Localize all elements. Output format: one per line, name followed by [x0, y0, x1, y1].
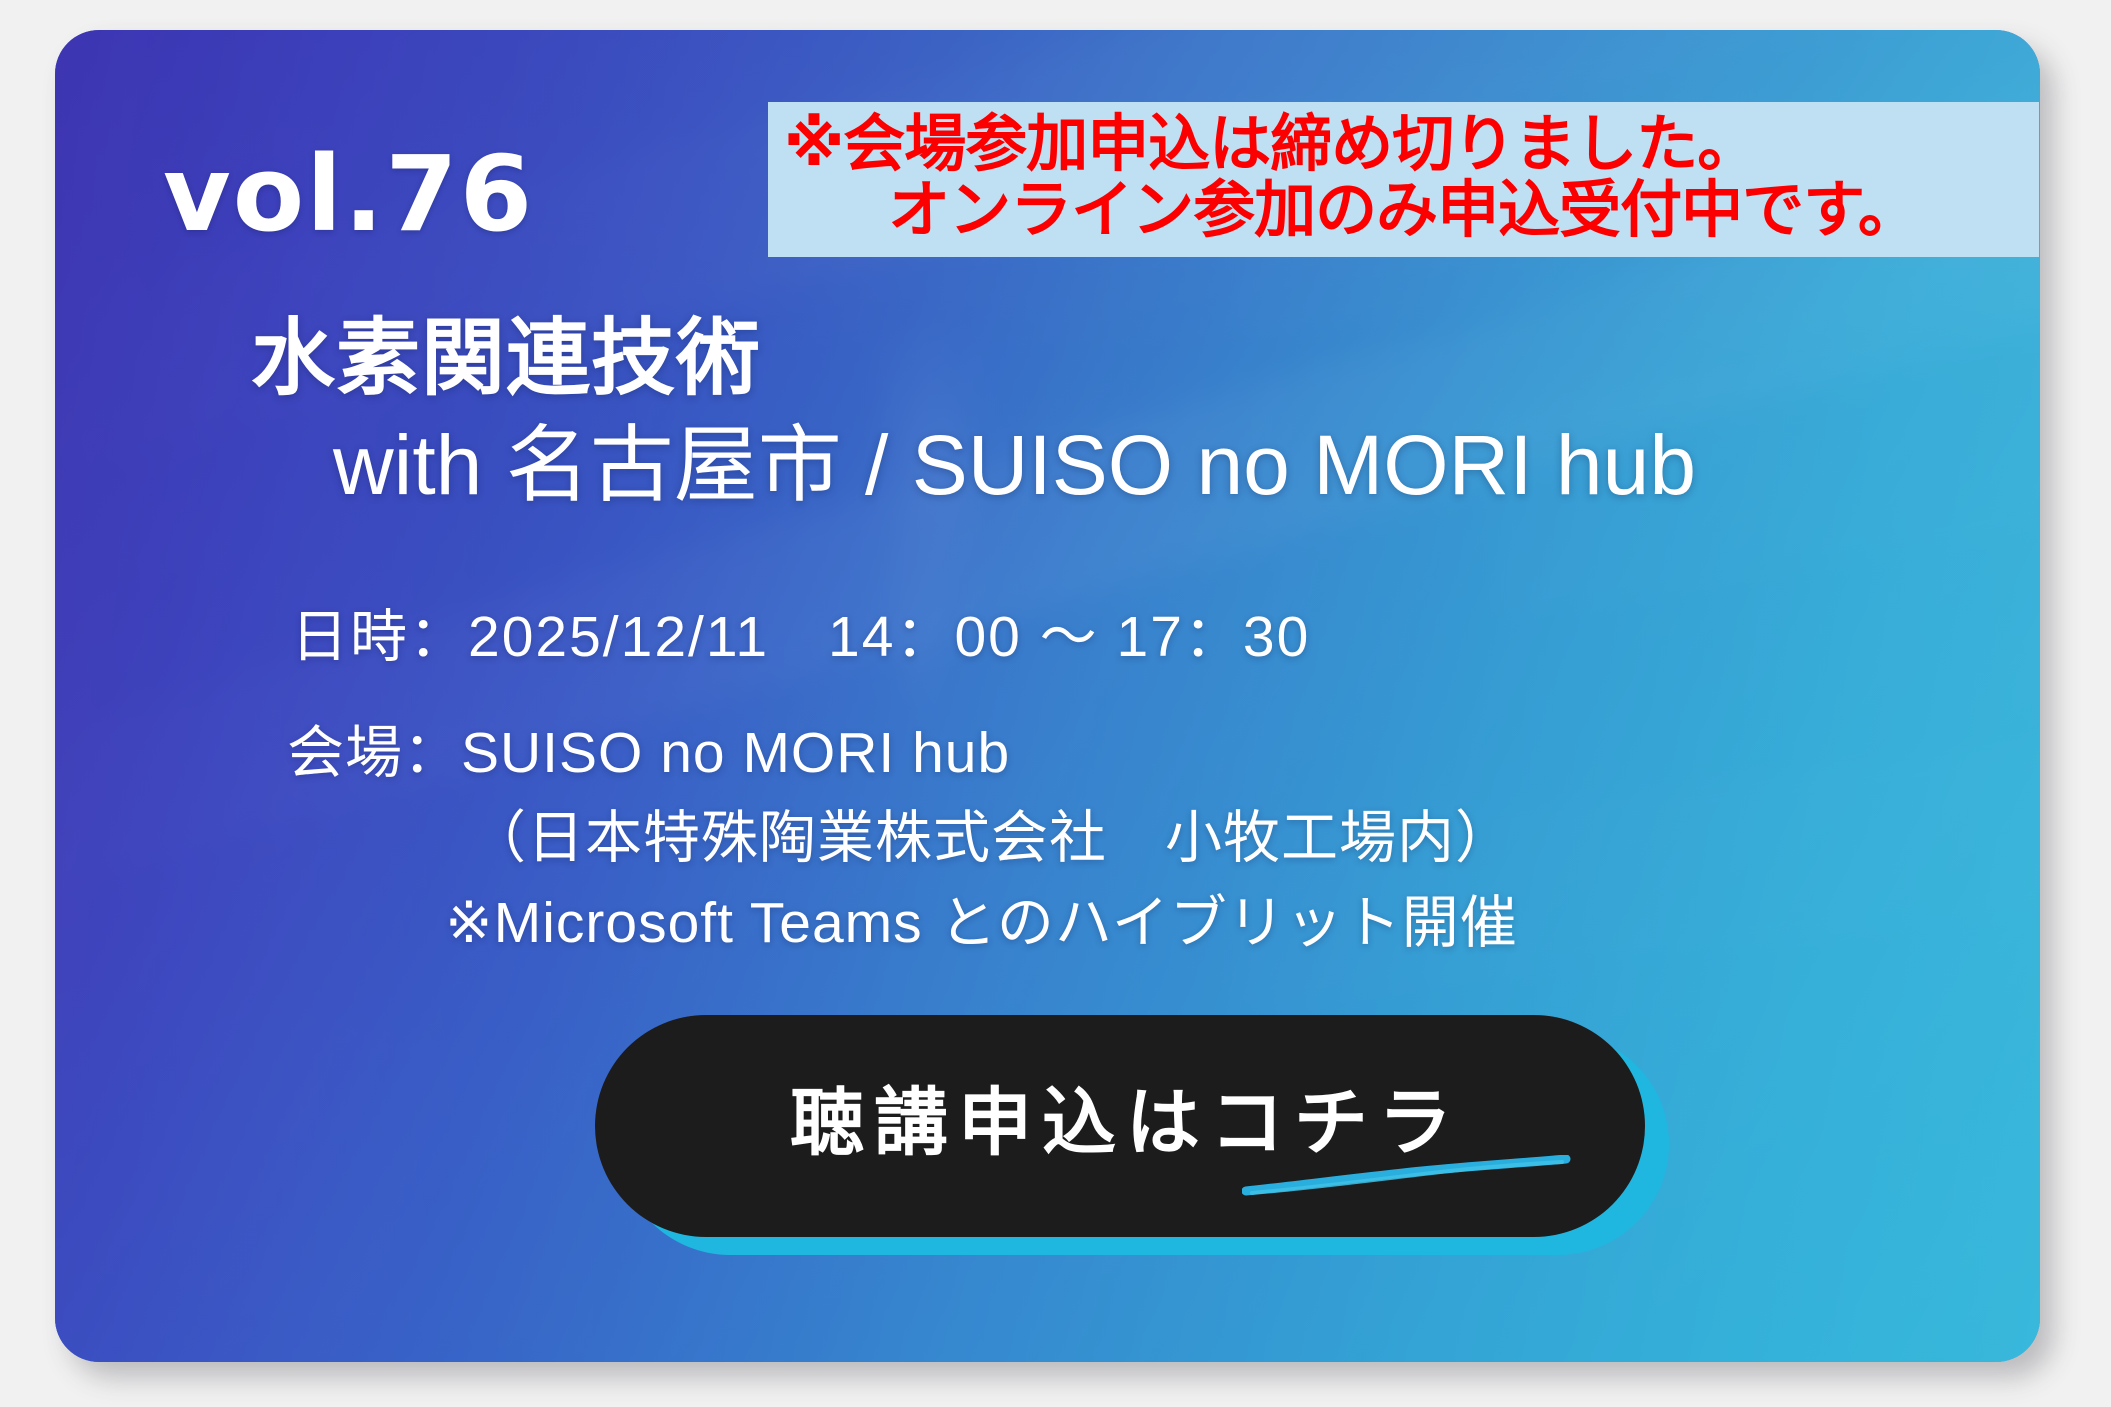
poster-canvas: vol.76 ※会場参加申込は締め切りました。 オンライン参加のみ申込受付中です…	[0, 0, 2111, 1407]
notice-line-1: ※会場参加申込は締め切りました。	[784, 112, 2023, 178]
event-datetime: 日時：2025/12/11 14：00 〜 17：30	[291, 606, 1310, 670]
cta-area: 聴講申込はコチラ	[595, 1015, 1695, 1255]
event-hybrid-note: ※Microsoft Teams とのハイブリット開催	[445, 892, 1518, 956]
volume-label: vol.76	[163, 142, 534, 246]
poster-content: vol.76 ※会場参加申込は締め切りました。 オンライン参加のみ申込受付中です…	[55, 30, 2040, 1362]
event-venue: 会場：SUISO no MORI hub	[287, 722, 1010, 786]
registration-button-label: 聴講申込はコチラ	[790, 1063, 1462, 1170]
event-title-main: 水素関連技術	[251, 315, 761, 402]
registration-button[interactable]: 聴講申込はコチラ	[595, 1015, 1645, 1237]
event-poster-card: vol.76 ※会場参加申込は締め切りました。 オンライン参加のみ申込受付中です…	[55, 30, 2040, 1362]
event-title-sub: with 名古屋市 / SUISO no MORI hub	[333, 422, 1696, 509]
notice-line-2: オンライン参加のみ申込受付中です。	[784, 178, 2023, 244]
event-venue-detail: （日本特殊陶業株式会社 小牧工場内）	[469, 807, 1513, 871]
registration-notice-box: ※会場参加申込は締め切りました。 オンライン参加のみ申込受付中です。	[768, 102, 2039, 257]
